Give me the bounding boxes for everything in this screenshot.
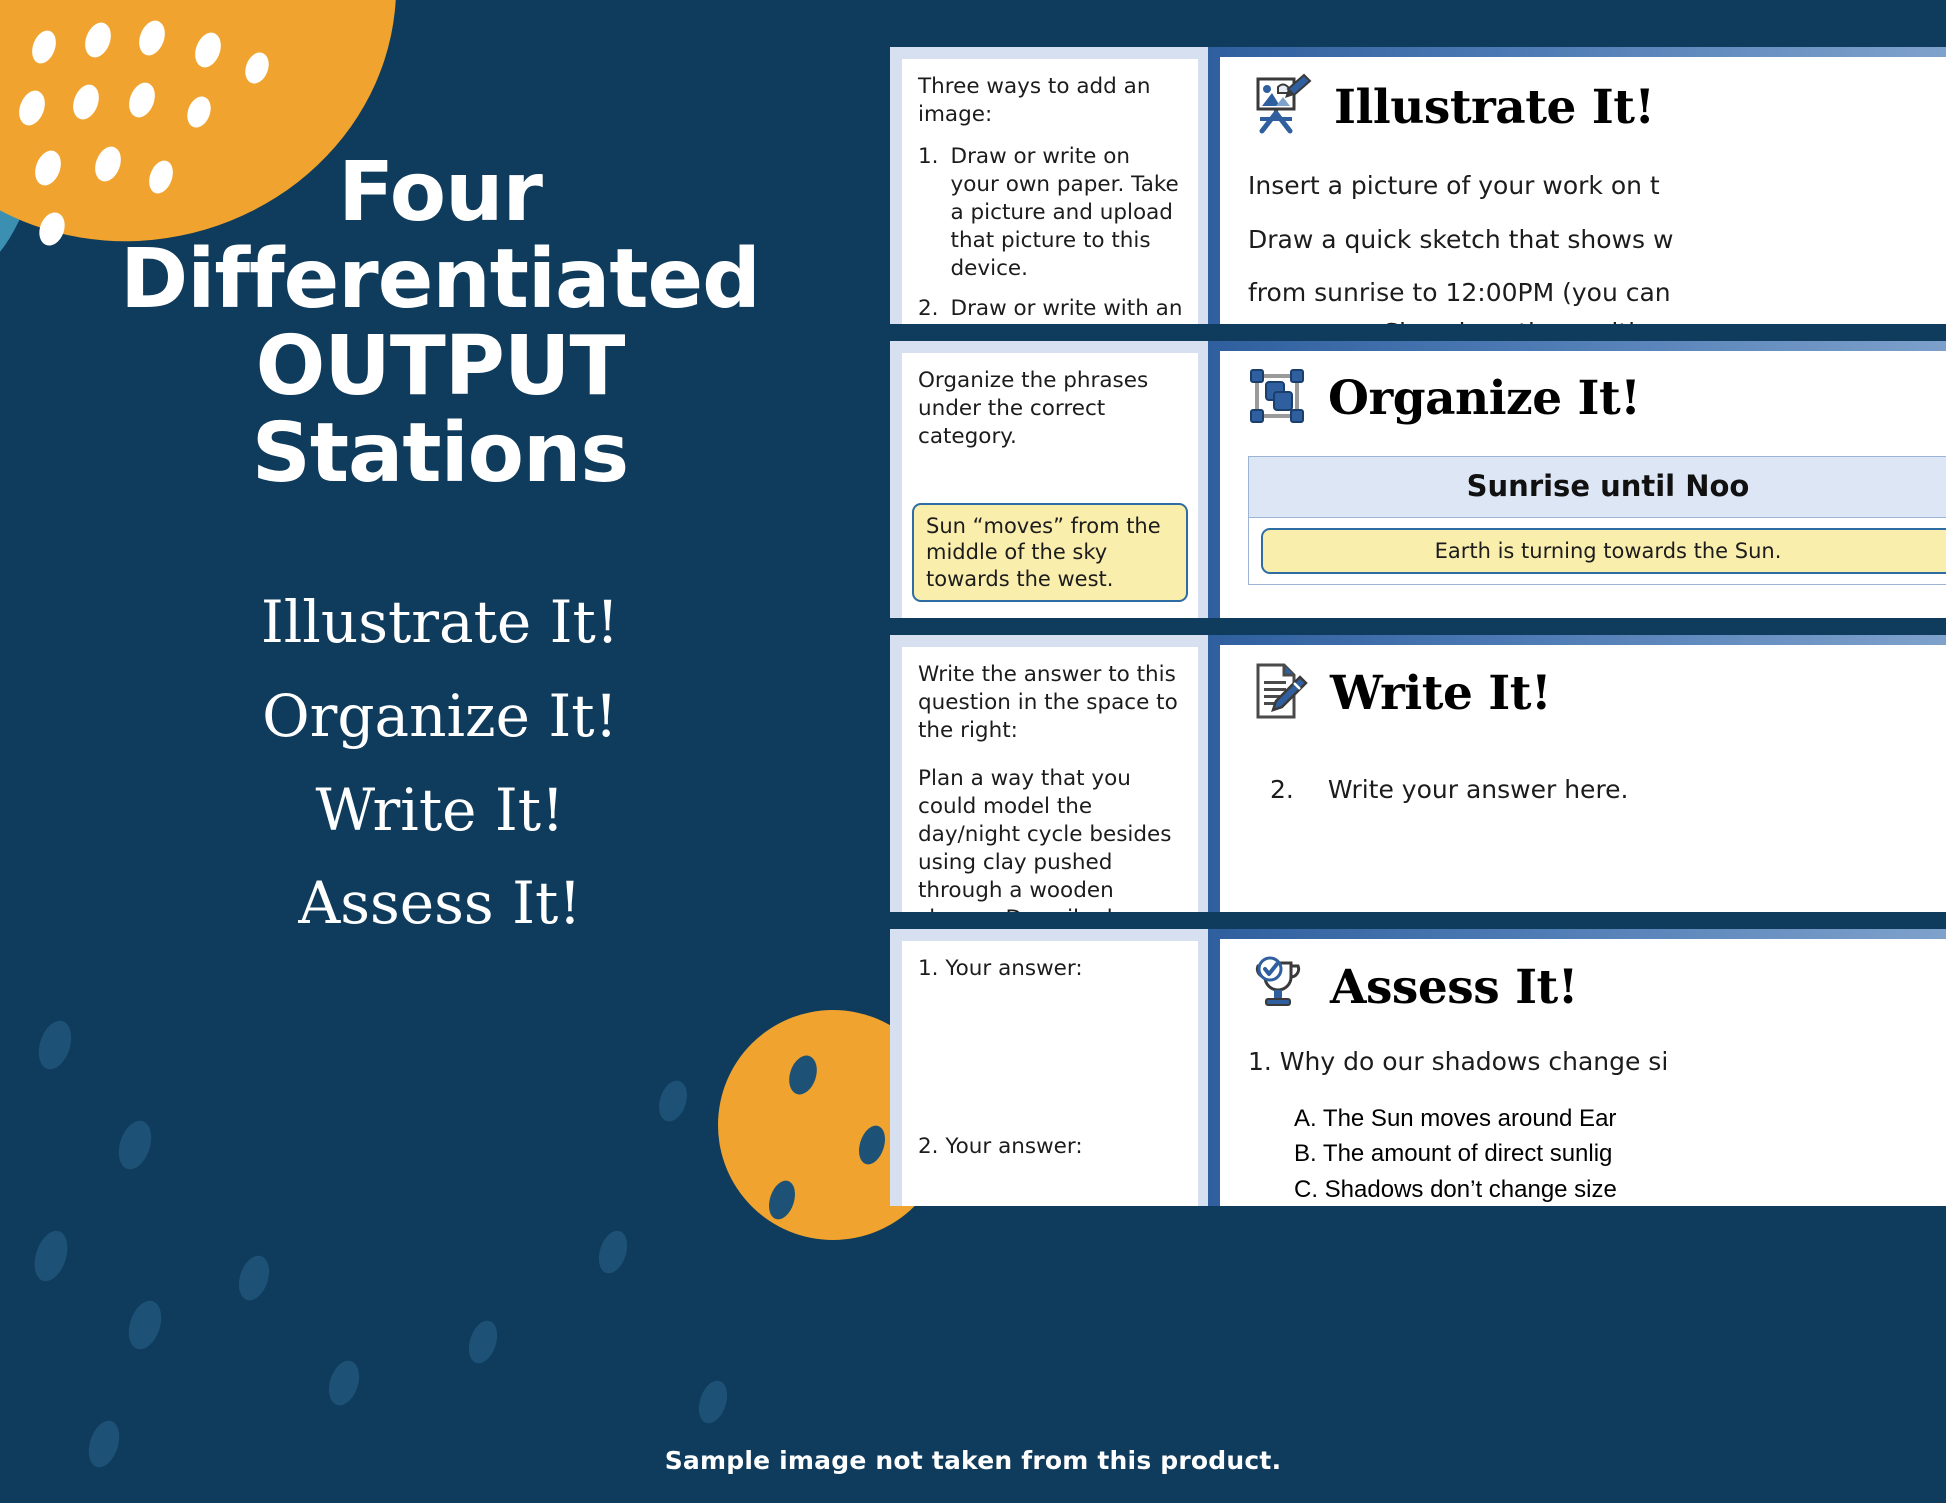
list-text: Draw or write on your own paper. Take a … (951, 143, 1184, 283)
slide-right-content: Organize It! Sunrise until Noo Earth is … (1220, 351, 1946, 618)
easel-paintbrush-icon (1248, 73, 1312, 142)
station-item-illustrate: Illustrate It! (60, 576, 820, 670)
list-text: Draw or write with an online app. Take a… (951, 295, 1184, 324)
card-paragraph: Insert a picture of your work on t (1248, 168, 1946, 204)
slide-right-content: Assess It! 1. Why do our shadows change … (1220, 939, 1946, 1206)
sample-disclaimer: Sample image not taken from this product… (0, 1446, 1946, 1475)
document-pencil-icon (1248, 661, 1308, 726)
card-paragraph: Draw a quick sketch that shows w (1248, 222, 1946, 258)
page-title: Four Differentiated OUTPUT Stations (60, 150, 820, 498)
title-line-3: OUTPUT (60, 324, 820, 411)
list-marker: 1. (918, 143, 939, 283)
slide-left-content: 1. Your answer: 2. Your answer: (902, 941, 1198, 1206)
slide-preview-illustrate[interactable]: Three ways to add an image: 1. Draw or w… (890, 47, 1946, 324)
title-column: Four Differentiated OUTPUT Stations Illu… (0, 0, 880, 1503)
assessment-question: 1. Why do our shadows change si (1248, 1044, 1946, 1080)
group-objects-icon (1248, 367, 1306, 430)
station-list: Illustrate It! Organize It! Write It! As… (60, 576, 820, 952)
answer-field-2[interactable]: 2. Your answer: (918, 1133, 1184, 1161)
slide-right-panel: Write It! 2. Write your answer here. (1208, 635, 1946, 912)
slide-left-panel: Organize the phrases under the correct c… (890, 341, 1208, 618)
category-cell: Earth is turning towards the Sun. (1249, 518, 1946, 584)
sub-item-marker: a. (1326, 315, 1349, 325)
slide-preview-stack: Three ways to add an image: 1. Draw or w… (890, 47, 1946, 1223)
list-item: 1. Draw or write on your own paper. Take… (918, 143, 1184, 283)
card-header: Assess It! (1248, 955, 1946, 1020)
slide-left-panel: 1. Your answer: 2. Your answer: (890, 929, 1208, 1206)
instruction-intro: Write the answer to this question in the… (918, 661, 1184, 745)
station-item-organize: Organize It! (60, 670, 820, 764)
slide-left-content: Write the answer to this question in the… (902, 647, 1198, 912)
answer-field-1[interactable]: 1. Your answer: (918, 955, 1184, 983)
card-title: Illustrate It! (1334, 80, 1655, 135)
slide-preview-write[interactable]: Write the answer to this question in the… (890, 635, 1946, 912)
slide-left-panel: Write the answer to this question in the… (890, 635, 1208, 912)
slide-right-panel: Organize It! Sunrise until Noo Earth is … (1208, 341, 1946, 618)
station-item-write: Write It! (60, 764, 820, 858)
slide-right-panel: Illustrate It! Insert a picture of your … (1208, 47, 1946, 324)
phrase-chip[interactable]: Earth is turning towards the Sun. (1261, 528, 1946, 574)
trophy-check-icon (1248, 955, 1308, 1020)
card-header: Write It! (1248, 661, 1946, 726)
slide-left-content: Organize the phrases under the correct c… (902, 353, 1198, 618)
title-line-1: Four (60, 150, 820, 237)
card-header: Organize It! (1248, 367, 1946, 430)
card-body: Insert a picture of your work on t Draw … (1248, 168, 1946, 324)
card-header: Illustrate It! (1248, 73, 1946, 142)
title-line-2: Differentiated (60, 237, 820, 324)
instruction-list: 1. Draw or write on your own paper. Take… (918, 143, 1184, 324)
slide-left-content: Three ways to add an image: 1. Draw or w… (902, 59, 1198, 324)
category-table: Sunrise until Noo Earth is turning towar… (1248, 456, 1946, 585)
slide-right-panel: Assess It! 1. Why do our shadows change … (1208, 929, 1946, 1206)
instruction-intro: Organize the phrases under the correct c… (918, 367, 1184, 451)
title-line-4: Stations (60, 411, 820, 498)
answer-placeholder: 2. Write your answer here. (1270, 772, 1946, 808)
slide-preview-assess[interactable]: 1. Your answer: 2. Your answer: (890, 929, 1946, 1206)
slide-left-panel: Three ways to add an image: 1. Draw or w… (890, 47, 1208, 324)
category-header: Sunrise until Noo (1249, 457, 1946, 518)
list-item: 2. Draw or write with an online app. Tak… (918, 295, 1184, 324)
phrase-chip[interactable]: Sun “moves” from the middle of the sky t… (912, 503, 1188, 602)
choice-option-b[interactable]: B. The amount of direct sunlig (1294, 1137, 1946, 1171)
list-marker: 2. (918, 295, 939, 324)
slide-preview-organize[interactable]: Organize the phrases under the correct c… (890, 341, 1946, 618)
card-title: Assess It! (1330, 960, 1578, 1015)
slide-right-content: Illustrate It! Insert a picture of your … (1220, 57, 1946, 324)
answer-text: Write your answer here. (1328, 772, 1629, 808)
instruction-body: Plan a way that you could model the day/… (918, 765, 1184, 912)
card-title: Write It! (1330, 666, 1551, 721)
instruction-intro: Three ways to add an image: (918, 73, 1184, 129)
card-title: Organize It! (1328, 371, 1640, 426)
choice-option-c[interactable]: C. Shadows don’t change size (1294, 1173, 1946, 1206)
sub-item-text: Show how the position (1383, 315, 1666, 325)
station-item-assess: Assess It! (60, 857, 820, 951)
card-paragraph: from sunrise to 12:00PM (you can (1248, 275, 1946, 311)
choice-list: A. The Sun moves around Ear B. The amoun… (1294, 1102, 1946, 1207)
choice-option-a[interactable]: A. The Sun moves around Ear (1294, 1102, 1946, 1136)
slide-right-content: Write It! 2. Write your answer here. (1220, 645, 1946, 912)
answer-marker: 2. (1270, 772, 1294, 808)
card-sub-item: a. Show how the position (1326, 315, 1946, 325)
